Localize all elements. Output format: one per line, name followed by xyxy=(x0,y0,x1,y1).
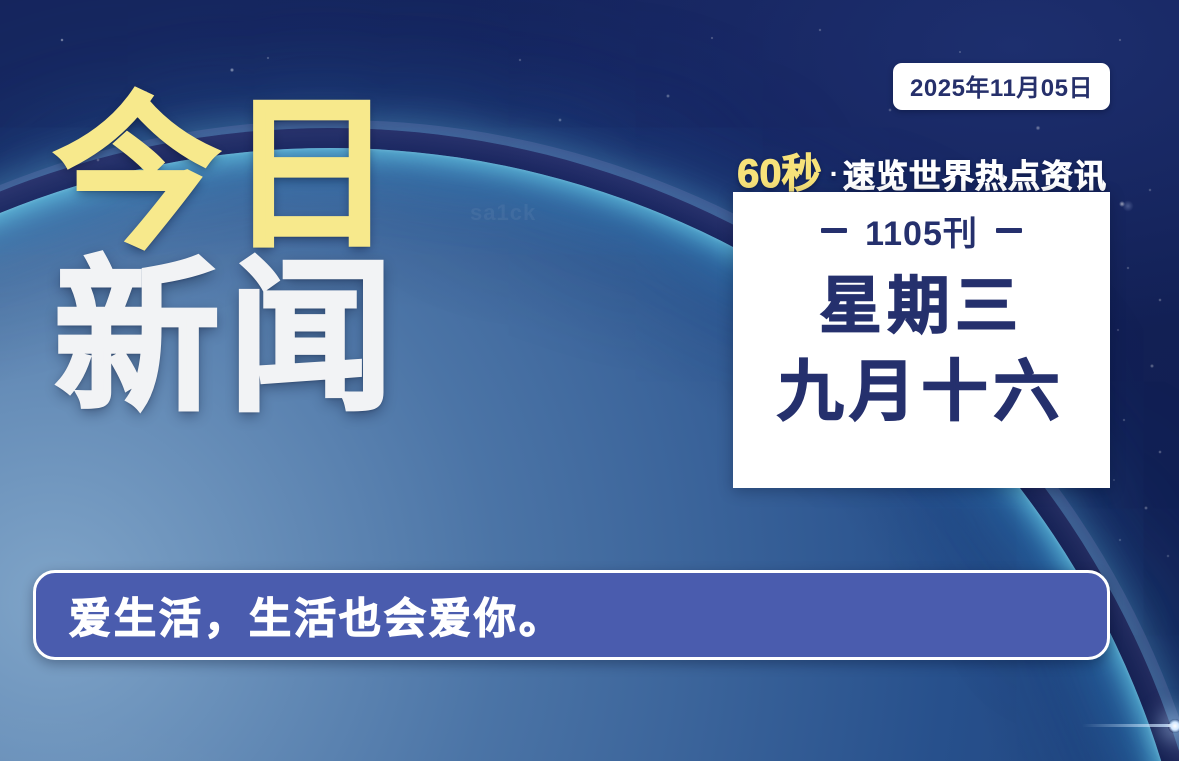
masthead-line-jinri: 今日 xyxy=(54,96,402,255)
dash-right-icon xyxy=(996,228,1022,233)
date-badge: 2025年11月05日 xyxy=(893,63,1110,110)
lunar-date-label: 九月十六 xyxy=(778,355,1066,428)
slogan-text: 爱生活，生活也会爱你。 xyxy=(69,585,564,646)
masthead-line-xinwen: 新闻 xyxy=(54,259,402,418)
tagline-seconds: 60秒 xyxy=(737,152,822,196)
lens-flare-streak xyxy=(1082,724,1178,727)
news-poster: sa1ck 2025年11月05日 今日 新闻 60秒·速览世界热点资讯 110… xyxy=(0,0,1179,761)
date-info-card: 1105刊 星期三 九月十六 xyxy=(733,192,1110,488)
slogan-banner: 爱生活，生活也会爱你。 xyxy=(33,570,1110,660)
issue-number: 1105刊 xyxy=(865,206,978,255)
watermark: sa1ck xyxy=(470,200,536,226)
tagline-separator-dot: · xyxy=(830,158,839,189)
lens-flare-star xyxy=(1168,719,1179,733)
weekday-label: 星期三 xyxy=(819,273,1023,341)
masthead: 今日 新闻 xyxy=(54,96,402,419)
issue-number-row: 1105刊 xyxy=(821,206,1022,255)
dash-left-icon xyxy=(821,228,847,233)
tagline: 60秒·速览世界热点资讯 xyxy=(737,141,1107,199)
tagline-description: 速览世界热点资讯 xyxy=(843,158,1107,194)
